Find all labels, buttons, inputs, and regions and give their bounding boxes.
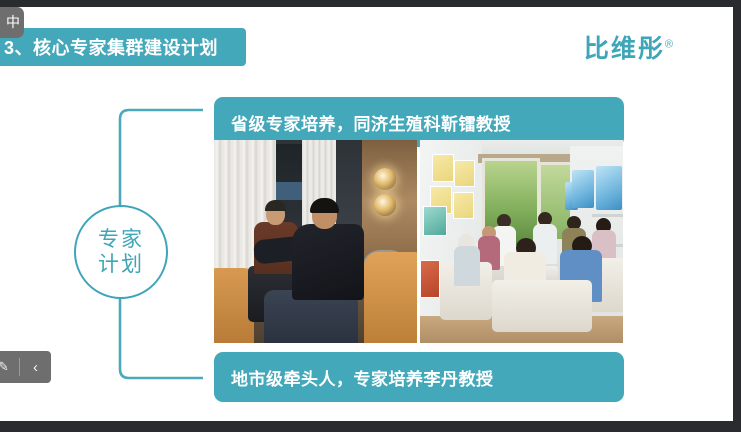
page-title: 3、核心专家集群建设计划 xyxy=(4,34,218,60)
wall-poster xyxy=(420,260,440,298)
caption-banner-bottom-text: 地市级牵头人，专家培养李丹教授 xyxy=(231,365,494,390)
wall-certificate xyxy=(432,154,454,182)
registered-trademark-icon: ® xyxy=(665,39,673,51)
caption-banner-top-text: 省级专家培养，同济生殖科靳镭教授 xyxy=(231,110,511,135)
meeting-display-panel xyxy=(596,166,622,210)
collapse-toolbar-button[interactable]: ‹ xyxy=(20,351,51,383)
lobby-orange-chair-right xyxy=(364,252,417,343)
slide-title-bar: 3、核心专家集群建设计划 xyxy=(0,28,246,66)
circle-label-line2: 计划 xyxy=(98,252,144,277)
ime-indicator-label: 中 xyxy=(6,14,20,30)
meeting-shelf xyxy=(592,214,623,217)
center-circle-node: 专家 计划 xyxy=(74,205,168,299)
wall-lamp-upper xyxy=(374,168,396,190)
screen-capture: 专家 计划 省级专家培养，同济生殖科靳镭教授 xyxy=(0,0,741,432)
pen-icon[interactable]: ✎ xyxy=(0,351,19,383)
photo-strip xyxy=(214,140,624,343)
brand-logo: 比维彤® xyxy=(584,29,673,65)
wall-lamp-lower xyxy=(374,194,396,216)
wall-certificate xyxy=(453,192,474,219)
lobby-person-b-body xyxy=(292,224,364,300)
meeting-sofa-front xyxy=(492,280,592,332)
window-edge-top xyxy=(0,0,741,7)
window-edge-bottom xyxy=(0,421,741,432)
floating-annotation-toolbar[interactable]: ✎ ‹ xyxy=(0,351,51,383)
photo-group-meeting xyxy=(420,140,623,343)
caption-banner-bottom: 地市级牵头人，专家培养李丹教授 xyxy=(214,352,624,402)
meeting-person-body xyxy=(454,246,480,286)
pen-icon-glyph: ✎ xyxy=(0,359,9,375)
window-edge-right xyxy=(733,0,741,432)
presentation-slide: 专家 计划 省级专家培养，同济生殖科靳镭教授 xyxy=(0,7,733,421)
chevron-left-icon: ‹ xyxy=(33,360,38,375)
wall-certificate xyxy=(423,206,447,236)
wall-certificate xyxy=(454,160,475,187)
photo-lobby-meeting xyxy=(214,140,417,343)
ime-indicator[interactable]: 中 xyxy=(0,7,24,38)
circle-label-line1: 专家 xyxy=(98,227,144,252)
meeting-display-panel xyxy=(572,170,594,208)
brand-logo-text: 比维彤 xyxy=(584,35,665,63)
lobby-screen xyxy=(276,182,302,200)
